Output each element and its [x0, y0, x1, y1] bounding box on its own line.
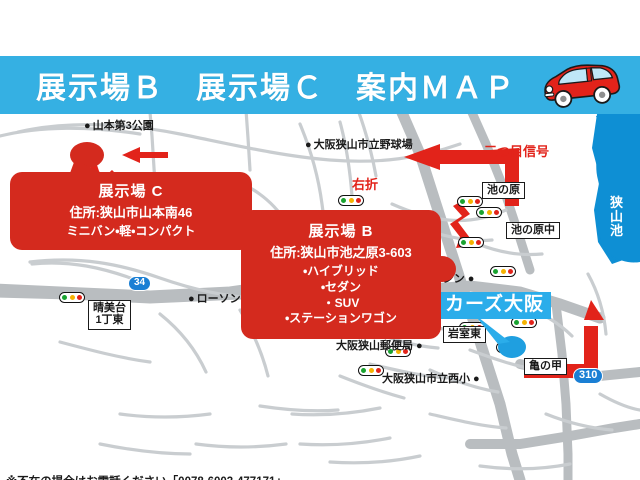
poi-yamamoto-park: 山本第3公園 — [84, 121, 154, 133]
intersection-ikenohara: 池の原 — [482, 182, 525, 199]
traffic-signal — [59, 292, 85, 303]
map-canvas: 34 310 山本第3公園 大阪狭山市立野球場 ローソン ジョーシン 大阪狭山郵… — [0, 114, 640, 480]
showroom-b-vehicle-item: ・SUV — [247, 296, 435, 312]
route-shield-34: 34 — [128, 276, 151, 291]
showroom-b-vehicle-item: ・セダン — [247, 280, 435, 296]
showroom-c-address: 住所:狭山市山本南46 — [16, 202, 246, 221]
page-title: 展示場Ｂ 展示場Ｃ 案内ＭＡＰ — [36, 63, 516, 107]
intersection-kamenoko: 亀の甲 — [524, 358, 567, 375]
showroom-b-vehicle-item: ・ハイブリッド — [247, 264, 435, 280]
traffic-signal — [476, 207, 502, 218]
showroom-b-vehicle-list: ・ハイブリッド ・セダン ・SUV ・ステーションワゴン — [247, 264, 435, 327]
poi-post-office: 大阪狭山郵便局 — [336, 341, 423, 353]
showroom-c-vehicle-item: ミニバン・軽・コンパクト — [16, 224, 246, 240]
showroom-b-callout: 展示場 B 住所:狭山市池之原3-603 ・ハイブリッド ・セダン ・SUV ・… — [241, 210, 441, 339]
traffic-signal — [490, 266, 516, 277]
poi-nishi-elementary: 大阪狭山市立西小 — [382, 374, 480, 386]
poi-baseball-stadium: 大阪狭山市立野球場 — [305, 140, 413, 152]
annotation-right-turn: 右折 — [352, 174, 378, 193]
showroom-c-vehicle-list: ミニバン・軽・コンパクト — [16, 224, 246, 240]
header-banner: 展示場Ｂ 展示場Ｃ 案内ＭＡＰ — [0, 56, 640, 114]
showroom-b-address: 住所:狭山市池之原3-603 — [247, 242, 435, 261]
intersection-ikenohara-naka: 池の原中 — [506, 222, 560, 239]
carz-osaka-tag: カーズ大阪 — [438, 292, 551, 319]
showroom-b-title: 展示場 B — [247, 220, 435, 241]
route-shield-310: 310 — [573, 368, 603, 384]
traffic-signal — [458, 237, 484, 248]
annotation-third-signal: 三つ目信号 — [484, 141, 549, 160]
footnote-block: ※不在の場合はお電話ください「0078-6003-477171」 すぐにスタッフ… — [6, 474, 306, 480]
footnote-line-1: ※不在の場合はお電話ください「0078-6003-477171」 — [6, 474, 306, 480]
showroom-c-callout: 展示場 C 住所:狭山市山本南46 ミニバン・軽・コンパクト — [10, 172, 252, 250]
lake-label: 狭 山 池 — [610, 196, 623, 238]
red-minivan-icon — [538, 59, 624, 111]
lake-char-1: 狭 — [610, 196, 623, 210]
map-flyer: 展示場Ｂ 展示場Ｃ 案内ＭＡＰ — [0, 0, 640, 480]
showroom-c-title: 展示場 C — [16, 180, 246, 201]
showroom-b-vehicle-item: ・ステーションワゴン — [247, 311, 435, 327]
intersection-line-2: 1丁東 — [93, 314, 126, 326]
lake-char-2: 山 — [610, 210, 623, 224]
traffic-signal — [457, 196, 483, 207]
traffic-signal — [358, 365, 384, 376]
lake-char-3: 池 — [610, 224, 623, 238]
intersection-line-1: 晴美台 — [93, 302, 126, 314]
intersection-harumidai-1chome: 晴美台 1丁東 — [88, 300, 131, 330]
poi-lawson: ローソン — [188, 294, 241, 306]
traffic-signal — [338, 195, 364, 206]
